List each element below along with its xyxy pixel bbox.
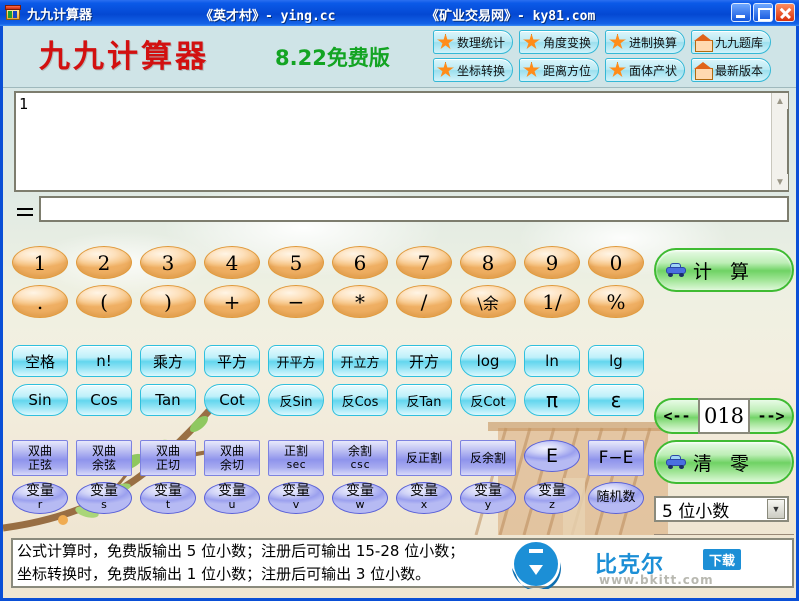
scroll-down-icon[interactable]: ▼ [772,174,788,190]
key-paren-open[interactable]: ( [76,285,132,318]
keypad-row-trig: Sin Cos Tan Cot 反Sin 反Cos 反Tan 反Cot π ε [12,384,644,416]
watermark-badge: 下载 [703,549,741,570]
key-line-1: 正割 [284,444,308,458]
counter-next-button[interactable]: --> [750,398,794,434]
star-icon [437,62,454,79]
toolbar-button-label: 距离方位 [543,62,591,79]
page-title: 九九计算器 [39,31,209,76]
main-panel: ▲ ▼ 1 2 3 4 5 6 7 8 9 0 . ( ) + − [3,88,796,535]
key-variable-w[interactable]: 变量w [332,482,388,514]
keypad-row-digits: 1 2 3 4 5 6 7 8 9 0 [12,246,644,279]
key-sec[interactable]: 正割 sec [268,440,324,476]
key-tanh[interactable]: 双曲 正切 [140,440,196,476]
key-power[interactable]: 乘方 [140,345,196,377]
toolbar-button-label: 数理统计 [457,34,505,51]
key-variable-s[interactable]: 变量s [76,482,132,514]
key-lg[interactable]: lg [588,345,644,377]
key-line-1: 反余割 [470,451,506,465]
key-random-number[interactable]: 随机数 [588,482,644,514]
expression-display[interactable]: ▲ ▼ [14,91,789,192]
toolbar-button-label: 面体产状 [629,62,677,79]
key-csc[interactable]: 余割 csc [332,440,388,476]
keypad-row-operators: . ( ) + − * / \余 1/ % [12,285,644,318]
key-label: 变量 [346,484,374,498]
key-minus[interactable]: − [268,285,324,318]
key-subscript: y [485,498,492,512]
key-label: 变量 [282,484,310,498]
version-label: 8.22免费版 [275,42,390,72]
key-plus[interactable]: + [204,285,260,318]
home-icon [695,34,712,51]
key-f-e-toggle[interactable]: F−E [588,440,644,476]
key-modulo[interactable]: \余 [460,285,516,318]
key-line-1: 双曲 [156,444,180,458]
star-icon [609,62,626,79]
key-3[interactable]: 3 [140,246,196,279]
toolbar-button-question-bank[interactable]: 九九题库 [691,30,771,54]
title-bar: 九九计算器 《英才村》- ying.cc 《矿业交易网》- ky81.com [0,0,799,26]
key-line-1: F−E [599,451,634,465]
key-2[interactable]: 2 [76,246,132,279]
key-9[interactable]: 9 [524,246,580,279]
window-title: 九九计算器 [27,4,92,23]
car-icon [666,455,686,469]
status-line-1: 公式计算时，免费版输出 5 位小数；注册后可输出 15-28 位小数； [13,540,792,563]
key-line-1: 双曲 [28,444,52,458]
toolbar-button-label: 进制换算 [629,34,677,51]
toolbar-row-2: 坐标转换 距离方位 面体产状 最新版本 [433,58,795,82]
expression-input[interactable] [19,95,769,190]
toolbar-button-label: 角度变换 [543,34,591,51]
star-icon [523,34,540,51]
application-window: 九九计算器 《英才村》- ying.cc 《矿业交易网》- ky81.com 九… [0,0,799,601]
counter-value[interactable]: 018 [698,398,750,434]
key-epsilon[interactable]: ε [588,384,644,416]
key-paren-close[interactable]: ) [140,285,196,318]
key-subscript: w [356,498,365,512]
decimals-selected-value: 5 位小数 [656,497,767,522]
key-asec[interactable]: 反正割 [396,440,452,476]
key-variable-x[interactable]: 变量x [396,482,452,514]
key-reciprocal[interactable]: 1/ [524,285,580,318]
decimals-dropdown[interactable]: 5 位小数 ▼ [654,496,789,522]
memory-counter: <-- 018 --> [654,398,794,434]
toolbar: 数理统计 角度变换 进制换算 九九题库 坐标转换 [433,30,795,86]
key-ln[interactable]: ln [524,345,580,377]
star-icon [609,34,626,51]
home-icon [695,62,712,79]
key-sinh[interactable]: 双曲 正弦 [12,440,68,476]
key-log[interactable]: log [460,345,516,377]
key-tan[interactable]: Tan [140,384,196,416]
key-5[interactable]: 5 [268,246,324,279]
key-space[interactable]: 空格 [12,345,68,377]
equals-icon [17,204,33,220]
key-variable-r[interactable]: 变量r [12,482,68,514]
key-pi[interactable]: π [524,384,580,416]
window-controls [731,3,795,22]
key-coth[interactable]: 双曲 余切 [204,440,260,476]
key-variable-z[interactable]: 变量z [524,482,580,514]
key-subscript: s [101,498,107,512]
key-nth-root[interactable]: 开方 [396,345,452,377]
key-label: 变量 [154,484,182,498]
key-label: 随机数 [596,491,635,505]
calculate-button[interactable]: 计 算 [654,248,794,292]
key-asin[interactable]: 反Sin [268,384,324,416]
watermark-url: www.bkitt.com [599,573,714,587]
key-label: 变量 [26,484,54,498]
key-cbrt[interactable]: 开立方 [332,345,388,377]
key-7[interactable]: 7 [396,246,452,279]
key-multiply[interactable]: * [332,285,388,318]
key-line-2: 正弦 [28,458,52,472]
key-line-2: csc [350,458,370,472]
toolbar-button-distance-bearing[interactable]: 距离方位 [519,58,599,82]
key-subscript: u [229,498,236,512]
maximize-button[interactable] [753,3,773,22]
key-percent[interactable]: % [588,285,644,318]
key-line-1: 双曲 [220,444,244,458]
key-sqrt[interactable]: 开平方 [268,345,324,377]
key-line-1: 反正割 [406,451,442,465]
status-bar: 公式计算时，免费版输出 5 位小数；注册后可输出 15-28 位小数； 坐标转换… [3,535,796,598]
key-square[interactable]: 平方 [204,345,260,377]
key-variable-v[interactable]: 变量v [268,482,324,514]
key-exponent-e[interactable]: E [524,440,580,472]
key-6[interactable]: 6 [332,246,388,279]
car-icon [666,263,686,277]
result-input[interactable] [41,198,787,220]
key-subscript: v [293,498,300,512]
key-label: 变量 [90,484,118,498]
toolbar-button-label: 坐标转换 [457,62,505,79]
key-variable-t[interactable]: 变量t [140,482,196,514]
key-line-2: sec [286,458,306,472]
chevron-down-icon[interactable]: ▼ [767,499,785,519]
key-subscript: x [421,498,428,512]
clear-button[interactable]: 清 零 [654,440,794,484]
toolbar-button-label: 九九题库 [715,34,763,51]
keypad-row-functions: 空格 n! 乘方 平方 开平方 开立方 开方 log ln lg [12,345,644,377]
sponsor-link-1[interactable]: 《英才村》- ying.cc [200,5,335,24]
clear-button-label: 清 零 [693,449,755,476]
scroll-up-icon[interactable]: ▲ [772,93,788,109]
key-4[interactable]: 4 [204,246,260,279]
key-label: 变量 [410,484,438,498]
key-sin[interactable]: Sin [12,384,68,416]
toolbar-button-surface-attitude[interactable]: 面体产状 [605,58,685,82]
key-line-2: 余弦 [92,458,116,472]
key-1[interactable]: 1 [12,246,68,279]
key-variable-y[interactable]: 变量y [460,482,516,514]
key-subscript: r [38,498,43,512]
key-atan[interactable]: 反Tan [396,384,452,416]
key-cos[interactable]: Cos [76,384,132,416]
keypad-row-hyperbolic: 双曲 正弦 双曲 余弦 双曲 正切 双曲 余切 正割 sec 余割 csc [12,440,644,476]
key-line-2: 余切 [220,458,244,472]
key-cot[interactable]: Cot [204,384,260,416]
key-acos[interactable]: 反Cos [332,384,388,416]
toolbar-button-statistics[interactable]: 数理统计 [433,30,513,54]
key-line-2: 正切 [156,458,180,472]
key-acsc[interactable]: 反余割 [460,440,516,476]
key-line-1: E [546,449,558,463]
star-icon [437,34,454,51]
key-variable-u[interactable]: 变量u [204,482,260,514]
keypad-row-variables: 变量r 变量s 变量t 变量u 变量v 变量w 变量x 变量y [12,482,644,514]
key-8[interactable]: 8 [460,246,516,279]
star-icon [523,62,540,79]
key-divide[interactable]: / [396,285,452,318]
sponsor-link-2[interactable]: 《矿业交易网》- ky81.com [426,5,595,24]
key-subscript: t [166,498,170,512]
toolbar-button-base-conversion[interactable]: 进制换算 [605,30,685,54]
calculate-button-label: 计 算 [693,257,755,284]
close-button[interactable] [775,3,795,22]
toolbar-button-label: 最新版本 [715,62,763,79]
key-line-1: 余割 [348,444,372,458]
app-icon [4,4,22,22]
header-band: 九九计算器 8.22免费版 数理统计 角度变换 进制换算 九九题库 [3,26,796,88]
key-factorial[interactable]: n! [76,345,132,377]
counter-prev-button[interactable]: <-- [654,398,698,434]
minimize-button[interactable] [731,3,751,22]
key-label: 变量 [538,484,566,498]
key-cosh[interactable]: 双曲 余弦 [76,440,132,476]
key-label: 变量 [218,484,246,498]
toolbar-button-latest-version[interactable]: 最新版本 [691,58,771,82]
key-decimal-point[interactable]: . [12,285,68,318]
key-label: 变量 [474,484,502,498]
toolbar-button-coordinate-conversion[interactable]: 坐标转换 [433,58,513,82]
toolbar-button-angle-conversion[interactable]: 角度变换 [519,30,599,54]
key-acot[interactable]: 反Cot [460,384,516,416]
result-display[interactable] [39,196,789,222]
toolbar-row-1: 数理统计 角度变换 进制换算 九九题库 [433,30,795,54]
key-0[interactable]: 0 [588,246,644,279]
key-subscript: z [549,498,555,512]
key-line-1: 双曲 [92,444,116,458]
expression-scrollbar[interactable]: ▲ ▼ [771,93,787,190]
